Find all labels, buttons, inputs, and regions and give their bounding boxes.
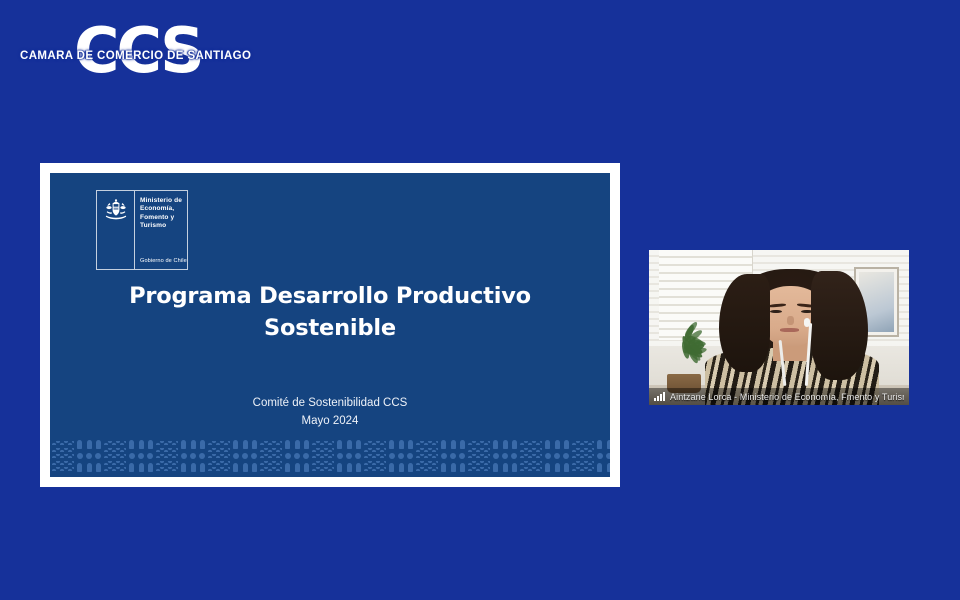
pattern-bullets: [388, 439, 414, 473]
pattern-bullets: [284, 439, 310, 473]
person-hair-right: [811, 271, 868, 380]
ministry-name-line2: Economía,: [140, 205, 184, 213]
slide-title: Programa Desarrollo Productivo Sostenibl…: [90, 281, 570, 345]
pattern-waves: [154, 439, 180, 473]
participant-person: [724, 269, 859, 405]
pattern-waves: [570, 439, 596, 473]
slide-canvas: Ministerio de Economía, Fomento y Turism…: [50, 173, 610, 477]
video-participant-tile[interactable]: Aintzane Lorca - Ministerio de Economía,…: [646, 247, 912, 408]
pattern-bullets: [336, 439, 362, 473]
pattern-row: [50, 435, 610, 477]
slide-subtitle: Comité de Sostenibilidad CCS Mayo 2024: [50, 395, 610, 431]
person-eye-left: [770, 310, 782, 314]
ministry-crest-column: [97, 191, 135, 269]
pattern-bullets: [76, 439, 102, 473]
person-nose: [787, 316, 794, 324]
pattern-bullets: [492, 439, 518, 473]
shared-slide-frame[interactable]: Ministerio de Economía, Fomento y Turism…: [40, 163, 620, 487]
participant-name-label: Aintzane Lorca - Ministerio de Economía,…: [649, 388, 909, 405]
chilean-textile-pattern: [50, 435, 610, 477]
person-eyebrow-left: [768, 304, 786, 309]
ministry-name-line3: Fomento y: [140, 214, 184, 222]
ministry-name-line1: Ministerio de: [140, 197, 184, 205]
pattern-waves: [102, 439, 128, 473]
pattern-waves: [206, 439, 232, 473]
pattern-group: [258, 439, 310, 473]
ministry-government-label: Gobierno de Chile: [140, 258, 187, 264]
chile-coat-of-arms-icon: [103, 199, 129, 221]
pattern-waves: [258, 439, 284, 473]
ministry-logo: Ministerio de Economía, Fomento y Turism…: [96, 190, 188, 270]
pattern-waves: [362, 439, 388, 473]
pattern-group: [362, 439, 414, 473]
pattern-group: [570, 439, 610, 473]
pattern-waves: [50, 439, 76, 473]
pattern-group: [102, 439, 154, 473]
person-hair-left: [719, 274, 770, 372]
pattern-group: [154, 439, 206, 473]
pattern-bullets: [180, 439, 206, 473]
signal-bars-icon: [654, 392, 665, 401]
ccs-logo: CCS CAMARA DE COMERCIO DE SANTIAGO: [18, 26, 228, 82]
participant-name-text: Aintzane Lorca - Ministerio de Economía,…: [670, 392, 904, 402]
pattern-group: [466, 439, 518, 473]
pattern-waves: [310, 439, 336, 473]
ministry-text-column: Ministerio de Economía, Fomento y Turism…: [135, 191, 187, 269]
pattern-bullets: [232, 439, 258, 473]
pattern-waves: [518, 439, 544, 473]
pattern-bullets: [544, 439, 570, 473]
pattern-bullets: [440, 439, 466, 473]
video-feed: [649, 250, 909, 405]
slide-subtitle-date: Mayo 2024: [50, 413, 610, 431]
pattern-group: [414, 439, 466, 473]
pattern-waves: [414, 439, 440, 473]
pattern-group: [518, 439, 570, 473]
pattern-group: [50, 439, 102, 473]
pattern-waves: [466, 439, 492, 473]
ccs-logo-tagline: CAMARA DE COMERCIO DE SANTIAGO: [20, 50, 251, 62]
pattern-group: [206, 439, 258, 473]
pattern-group: [310, 439, 362, 473]
ministry-name-line4: Turismo: [140, 222, 184, 230]
person-mouth: [780, 328, 799, 332]
slide-subtitle-committee: Comité de Sostenibilidad CCS: [50, 395, 610, 413]
pattern-bullets: [596, 439, 610, 473]
pattern-bullets: [128, 439, 154, 473]
